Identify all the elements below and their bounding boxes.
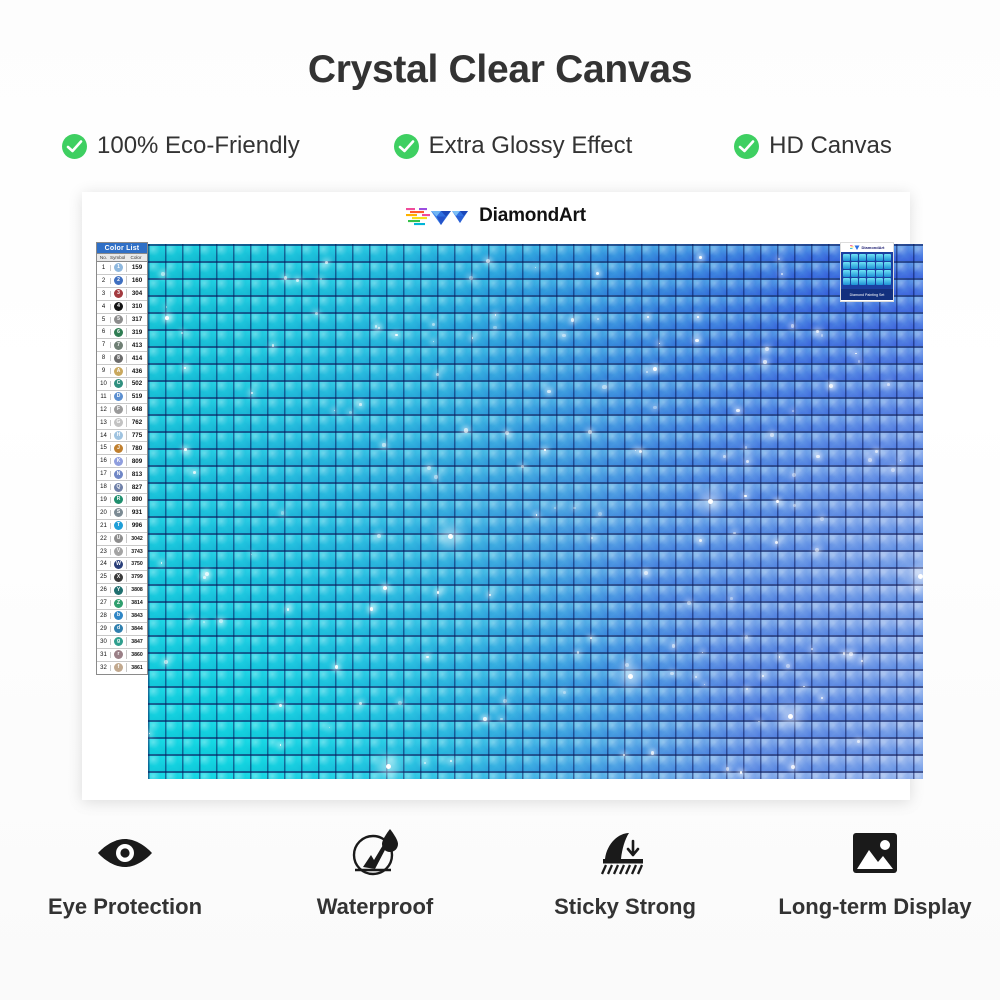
drill-bag (884, 254, 891, 261)
color-list-row: 28b3843 (97, 610, 147, 623)
drill-bag (867, 278, 874, 285)
sparkle (733, 532, 735, 534)
sparkle (279, 704, 282, 707)
sparkle (779, 656, 780, 657)
color-row-symbol: N (111, 470, 127, 479)
sparkle (704, 684, 705, 685)
color-row-symbol: 4 (111, 302, 127, 311)
color-row-number: 2 (97, 278, 111, 284)
sparkle (821, 697, 823, 699)
drill-bag (843, 270, 850, 277)
sparkle (382, 443, 385, 446)
sparkle (653, 367, 657, 371)
drill-bag (859, 262, 866, 269)
color-row-symbol: U (111, 534, 127, 543)
eye-icon (0, 822, 250, 884)
color-row-number: 20 (97, 510, 111, 516)
sparkle (272, 344, 274, 346)
check-circle-icon (394, 134, 419, 159)
sparkle (489, 594, 491, 596)
sparkle-overlay (148, 244, 923, 779)
sparkle (778, 258, 780, 260)
color-row-symbol: R (111, 495, 127, 504)
color-row-code: 502 (127, 380, 147, 387)
color-row-number: 32 (97, 665, 111, 671)
color-row-number: 23 (97, 549, 111, 555)
color-list-title: Color List (97, 243, 147, 254)
sparkle (672, 644, 675, 647)
sparkle (781, 273, 783, 275)
sparkle (762, 675, 764, 677)
sparkle (500, 718, 503, 721)
color-row-code: 762 (127, 419, 147, 426)
drill-bag (851, 254, 858, 261)
sparkle (495, 314, 496, 315)
sparkle (843, 652, 846, 655)
page-title: Crystal Clear Canvas (0, 48, 1000, 92)
benefit-label: Eye Protection (0, 894, 250, 920)
drill-bag (876, 270, 883, 277)
sparkle (699, 539, 702, 542)
sparkle (900, 460, 901, 461)
sparkle (433, 341, 434, 342)
color-row-number: 19 (97, 497, 111, 503)
sparkle (625, 663, 629, 667)
sparkle (424, 762, 426, 764)
diamond-logo-icon (850, 244, 860, 251)
drill-bag (884, 270, 891, 277)
sparkle (736, 409, 739, 412)
color-row-symbol: Q (111, 483, 127, 492)
thumbnail-drill-bags (841, 252, 893, 289)
sparkle (251, 554, 252, 555)
color-row-symbol: 5 (111, 315, 127, 324)
sparkle (536, 514, 537, 515)
color-list-rows: 1115922160333044431055317663197741388414… (97, 262, 147, 674)
thumbnail-brand: DiamondArt (841, 243, 893, 252)
color-row-code: 3861 (127, 665, 147, 671)
sparkle (699, 256, 702, 259)
sparkle (868, 458, 872, 462)
color-row-code: 3808 (127, 587, 147, 593)
color-row-symbol: d (111, 624, 127, 633)
color-row-symbol: 2 (111, 276, 127, 285)
sparkle (426, 656, 429, 659)
sparkle (398, 701, 402, 705)
sparkle (740, 771, 743, 774)
color-row-number: 5 (97, 317, 111, 323)
sparkle (164, 660, 168, 664)
color-row-code: 775 (127, 432, 147, 439)
color-row-number: 8 (97, 355, 111, 361)
drill-bag (867, 262, 874, 269)
sticky-brush-icon (500, 822, 750, 884)
product-feature-page: Crystal Clear Canvas 100% Eco-Friendly E… (0, 0, 1000, 1000)
sparkle (359, 403, 362, 406)
color-row-symbol: S (111, 508, 127, 517)
drill-bag (867, 270, 874, 277)
drill-bag (876, 262, 883, 269)
color-list-row: 19R890 (97, 494, 147, 507)
drill-bag (859, 278, 866, 285)
sparkle (450, 760, 452, 762)
color-row-number: 22 (97, 536, 111, 542)
color-list-row: 88414 (97, 352, 147, 365)
sparkle (280, 744, 281, 745)
sparkle (745, 446, 748, 449)
color-row-symbol: H (111, 431, 127, 440)
color-row-symbol: f (111, 663, 127, 672)
color-row-number: 15 (97, 445, 111, 451)
color-row-code: 3843 (127, 613, 147, 619)
sparkle (765, 347, 769, 351)
benefit-long-term-display: Long-term Display (750, 822, 1000, 920)
color-row-symbol: J (111, 444, 127, 453)
sparkle (857, 740, 860, 743)
drill-bag (876, 254, 883, 261)
color-row-code: 310 (127, 303, 147, 310)
color-list-header-row: No. Symbol Color (97, 254, 147, 262)
color-row-symbol: 7 (111, 341, 127, 350)
sparkle (792, 473, 796, 477)
drill-bag (884, 278, 891, 285)
color-row-code: 3799 (127, 574, 147, 580)
color-row-symbol: b (111, 611, 127, 620)
col-header-symbol: Symbol (110, 254, 125, 261)
sparkle (284, 276, 287, 279)
color-row-code: 519 (127, 393, 147, 400)
benefit-label: Waterproof (250, 894, 500, 920)
color-row-number: 12 (97, 407, 111, 413)
color-row-code: 648 (127, 406, 147, 413)
color-list-row: 20S931 (97, 507, 147, 520)
sparkle (723, 455, 725, 457)
color-row-number: 27 (97, 600, 111, 606)
sparkle (370, 607, 373, 610)
sparkle (287, 608, 290, 611)
color-row-code: 3743 (127, 549, 147, 555)
color-row-number: 18 (97, 484, 111, 490)
sparkle (770, 433, 773, 436)
color-list-row: 30g3847 (97, 636, 147, 649)
sparkle-burst (448, 534, 453, 539)
color-list-row: 55317 (97, 314, 147, 327)
brand-bar: DiamondArt (82, 192, 910, 240)
color-row-code: 813 (127, 471, 147, 478)
sparkle (377, 534, 381, 538)
sparkle (320, 278, 321, 279)
color-list-row: 9A436 (97, 365, 147, 378)
sparkle-burst (918, 574, 923, 579)
sparkle (472, 337, 474, 339)
check-circle-icon (734, 134, 759, 159)
check-circle-icon (62, 134, 87, 159)
color-list-row: 23V3743 (97, 546, 147, 559)
sparkle (486, 259, 490, 263)
color-row-number: 16 (97, 458, 111, 464)
color-row-code: 780 (127, 445, 147, 452)
thumbnail-caption: Diamond Painting Set (841, 289, 893, 300)
sparkle (193, 471, 196, 474)
color-list-row: 77413 (97, 339, 147, 352)
sparkle (161, 272, 165, 276)
sparkle (219, 619, 223, 623)
color-list-row: 11D519 (97, 391, 147, 404)
sparkle (464, 428, 468, 432)
color-row-number: 24 (97, 561, 111, 567)
sparkle (184, 367, 187, 370)
sparkle (875, 450, 878, 453)
sparkle (161, 562, 163, 564)
sparkle (434, 475, 437, 478)
color-list-row: 13G762 (97, 417, 147, 430)
drill-bag (867, 254, 874, 261)
product-preview-card: DiamondArt Color List No. Symbol Color 1… (82, 192, 910, 800)
color-row-code: 436 (127, 368, 147, 375)
sparkle (503, 699, 507, 703)
color-list-row: 25X3799 (97, 571, 147, 584)
feature-item-hd: HD Canvas (686, 132, 1000, 160)
drill-bag (851, 262, 858, 269)
color-row-number: 6 (97, 329, 111, 335)
picture-icon (750, 822, 1000, 884)
sparkle (436, 373, 440, 377)
sparkle (651, 751, 654, 754)
sparkle (325, 261, 328, 264)
sparkle (653, 406, 656, 409)
benefit-eye-protection: Eye Protection (0, 822, 250, 920)
color-list-row: 16K809 (97, 455, 147, 468)
sparkle (887, 383, 890, 386)
drill-bag (843, 278, 850, 285)
color-list-row: 44310 (97, 301, 147, 314)
sparkle-burst (628, 674, 633, 679)
sparkle (793, 504, 796, 507)
color-row-code: 3750 (127, 561, 147, 567)
sparkle (858, 360, 860, 362)
benefit-label: Sticky Strong (500, 894, 750, 920)
color-list-row: 12F648 (97, 404, 147, 417)
sparkle (786, 664, 790, 668)
color-list-row: 24W3750 (97, 558, 147, 571)
sparkle (815, 548, 819, 552)
sparkle (505, 431, 509, 435)
color-row-number: 21 (97, 523, 111, 529)
sparkle (296, 279, 299, 282)
color-list-row: 21T996 (97, 520, 147, 533)
drill-bag (843, 262, 850, 269)
color-row-code: 827 (127, 484, 147, 491)
color-row-symbol: 6 (111, 328, 127, 337)
sparkle (469, 276, 473, 280)
sparkle (571, 318, 575, 322)
drill-bag (851, 278, 858, 285)
color-row-symbol: D (111, 392, 127, 401)
color-row-symbol: G (111, 418, 127, 427)
sparkle (383, 586, 387, 590)
diamond-logo-icon (406, 203, 472, 229)
color-list-row: 33304 (97, 288, 147, 301)
sparkle (702, 652, 703, 653)
color-row-number: 28 (97, 613, 111, 619)
color-row-code: 996 (127, 522, 147, 529)
sparkle (670, 672, 674, 676)
color-row-number: 7 (97, 342, 111, 348)
color-row-code: 319 (127, 329, 147, 336)
color-row-symbol: 1 (111, 263, 127, 272)
color-list-row: 66319 (97, 326, 147, 339)
sparkle (597, 318, 599, 320)
color-row-number: 4 (97, 304, 111, 310)
sparkle (437, 591, 440, 594)
color-row-symbol: V (111, 547, 127, 556)
sparkle (349, 411, 352, 414)
sparkle (644, 571, 648, 575)
sparkle (697, 316, 699, 318)
sparkle (820, 517, 824, 521)
sparkle (432, 323, 435, 326)
color-row-code: 3844 (127, 626, 147, 632)
color-list-row: 11159 (97, 262, 147, 275)
color-row-code: 3042 (127, 536, 147, 542)
sparkle (861, 660, 863, 662)
sparkle (165, 316, 169, 320)
color-row-symbol: W (111, 560, 127, 569)
sparkle-burst (708, 499, 713, 504)
sparkle (776, 500, 779, 503)
drill-bag (851, 270, 858, 277)
sparkle (378, 327, 379, 328)
sparkle (821, 334, 824, 337)
color-row-number: 17 (97, 471, 111, 477)
color-row-code: 159 (127, 264, 147, 271)
color-list-row: 10C502 (97, 378, 147, 391)
color-row-symbol: X (111, 573, 127, 582)
sparkle (590, 637, 592, 639)
sparkle (816, 330, 819, 333)
color-row-code: 414 (127, 355, 147, 362)
brand-name: DiamondArt (479, 205, 586, 227)
color-row-symbol: 3 (111, 289, 127, 298)
sparkle (791, 765, 795, 769)
sparkle (792, 410, 794, 412)
sparkle (190, 619, 191, 620)
color-list-row: 29d3844 (97, 623, 147, 636)
sparkle (775, 541, 779, 545)
sparkle (493, 326, 496, 329)
sparkle (891, 468, 895, 472)
sparkle (395, 334, 398, 337)
sparkle (816, 455, 819, 458)
drill-bag (859, 254, 866, 261)
sparkle (203, 576, 206, 579)
color-list-row: 31r3860 (97, 649, 147, 662)
sparkle (726, 767, 730, 771)
sparkle (329, 727, 330, 728)
sparkle (758, 721, 760, 723)
color-row-symbol: C (111, 379, 127, 388)
color-row-number: 14 (97, 433, 111, 439)
sparkle (596, 272, 599, 275)
color-list-row: 26Y3808 (97, 584, 147, 597)
feature-label: Extra Glossy Effect (429, 132, 633, 160)
diamond-painting-canvas (148, 244, 923, 779)
sparkle (251, 392, 253, 394)
sparkle (849, 652, 853, 656)
sparkle (695, 676, 697, 678)
drill-bag (884, 262, 891, 269)
sparkle (281, 511, 284, 514)
sparkle (563, 691, 567, 695)
benefit-row: Eye Protection Waterproof (0, 822, 1000, 920)
color-list-row: 18Q827 (97, 481, 147, 494)
drill-bag (876, 278, 883, 285)
product-thumbnail: DiamondArt Diamond Painting Set (840, 242, 894, 302)
sparkle (602, 385, 606, 389)
color-row-number: 3 (97, 291, 111, 297)
color-row-symbol: g (111, 637, 127, 646)
color-row-number: 11 (97, 394, 111, 400)
color-list-row: 14H775 (97, 430, 147, 443)
color-row-symbol: Z (111, 599, 127, 608)
sparkle (521, 465, 524, 468)
color-row-number: 31 (97, 652, 111, 658)
brand-logo: DiamondArt (406, 203, 586, 229)
sparkle (203, 621, 205, 623)
sparkle (687, 601, 691, 605)
color-row-symbol: F (111, 405, 127, 414)
color-row-symbol: 8 (111, 354, 127, 363)
sparkle (730, 597, 733, 600)
sparkle (623, 754, 625, 756)
color-row-code: 317 (127, 316, 147, 323)
sparkle (746, 460, 749, 463)
benefit-label: Long-term Display (750, 894, 1000, 920)
sparkle-burst (788, 714, 793, 719)
sparkle (598, 512, 602, 516)
color-row-code: 890 (127, 496, 147, 503)
sparkle (335, 665, 338, 668)
color-row-symbol: Y (111, 586, 127, 595)
sparkle (547, 390, 550, 393)
sparkle (483, 717, 487, 721)
sparkle (916, 589, 918, 591)
color-row-number: 26 (97, 587, 111, 593)
feature-item-eco: 100% Eco-Friendly (0, 132, 346, 160)
sparkle (535, 267, 536, 268)
benefit-sticky-strong: Sticky Strong (500, 822, 750, 920)
sparkle (315, 312, 318, 315)
color-row-symbol: r (111, 650, 127, 659)
sparkle (746, 688, 748, 690)
color-list-row: 22U3042 (97, 533, 147, 546)
thumbnail-brand-name: DiamondArt (862, 245, 885, 250)
color-row-number: 10 (97, 381, 111, 387)
sparkle (635, 450, 636, 451)
color-row-number: 25 (97, 574, 111, 580)
sparkle (659, 343, 660, 344)
color-row-code: 931 (127, 509, 147, 516)
sparkle (695, 339, 698, 342)
color-row-code: 413 (127, 342, 147, 349)
color-row-symbol: T (111, 521, 127, 530)
sparkle (166, 306, 167, 307)
color-row-number: 1 (97, 265, 111, 271)
color-list-table: Color List No. Symbol Color 111592216033… (96, 242, 148, 675)
sparkle (359, 702, 362, 705)
sparkle (803, 686, 804, 687)
sparkle (745, 635, 749, 639)
